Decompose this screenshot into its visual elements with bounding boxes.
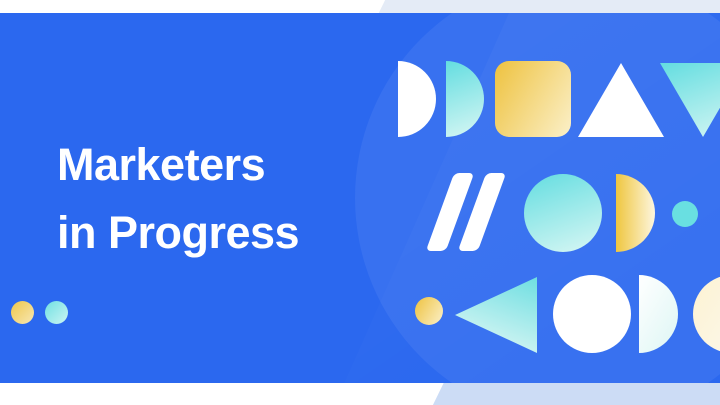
headline-line-1: Marketers [57,131,357,199]
shape-rounded-square-gold [495,61,571,137]
shape-triangle-up-white [578,63,664,137]
shape-half-circle-white [398,61,436,137]
shape-half-circle-cyan [446,61,484,137]
shape-small-circle-cyan [672,201,698,227]
shape-half-circle-gold [616,174,655,252]
shape-half-circle-white-cyan [639,275,678,353]
shape-circle-white [553,275,631,353]
shape-circle-cyan [524,174,602,252]
shape-circle-cream [693,275,720,353]
banner-graphic: Marketers in Progress [0,0,720,405]
shape-triangle-left-cyan [455,277,537,353]
headline: Marketers in Progress [57,131,357,268]
banner-card: Marketers in Progress [0,13,720,383]
headline-line-2: in Progress [57,199,357,267]
shape-small-circle-gold [415,297,443,325]
accent-dot-row [11,301,68,324]
page-background-top-diagonal [378,0,720,14]
gold-dot-icon [11,301,34,324]
cyan-dot-icon [45,301,68,324]
shape-triangle-down-cyan [660,63,720,137]
